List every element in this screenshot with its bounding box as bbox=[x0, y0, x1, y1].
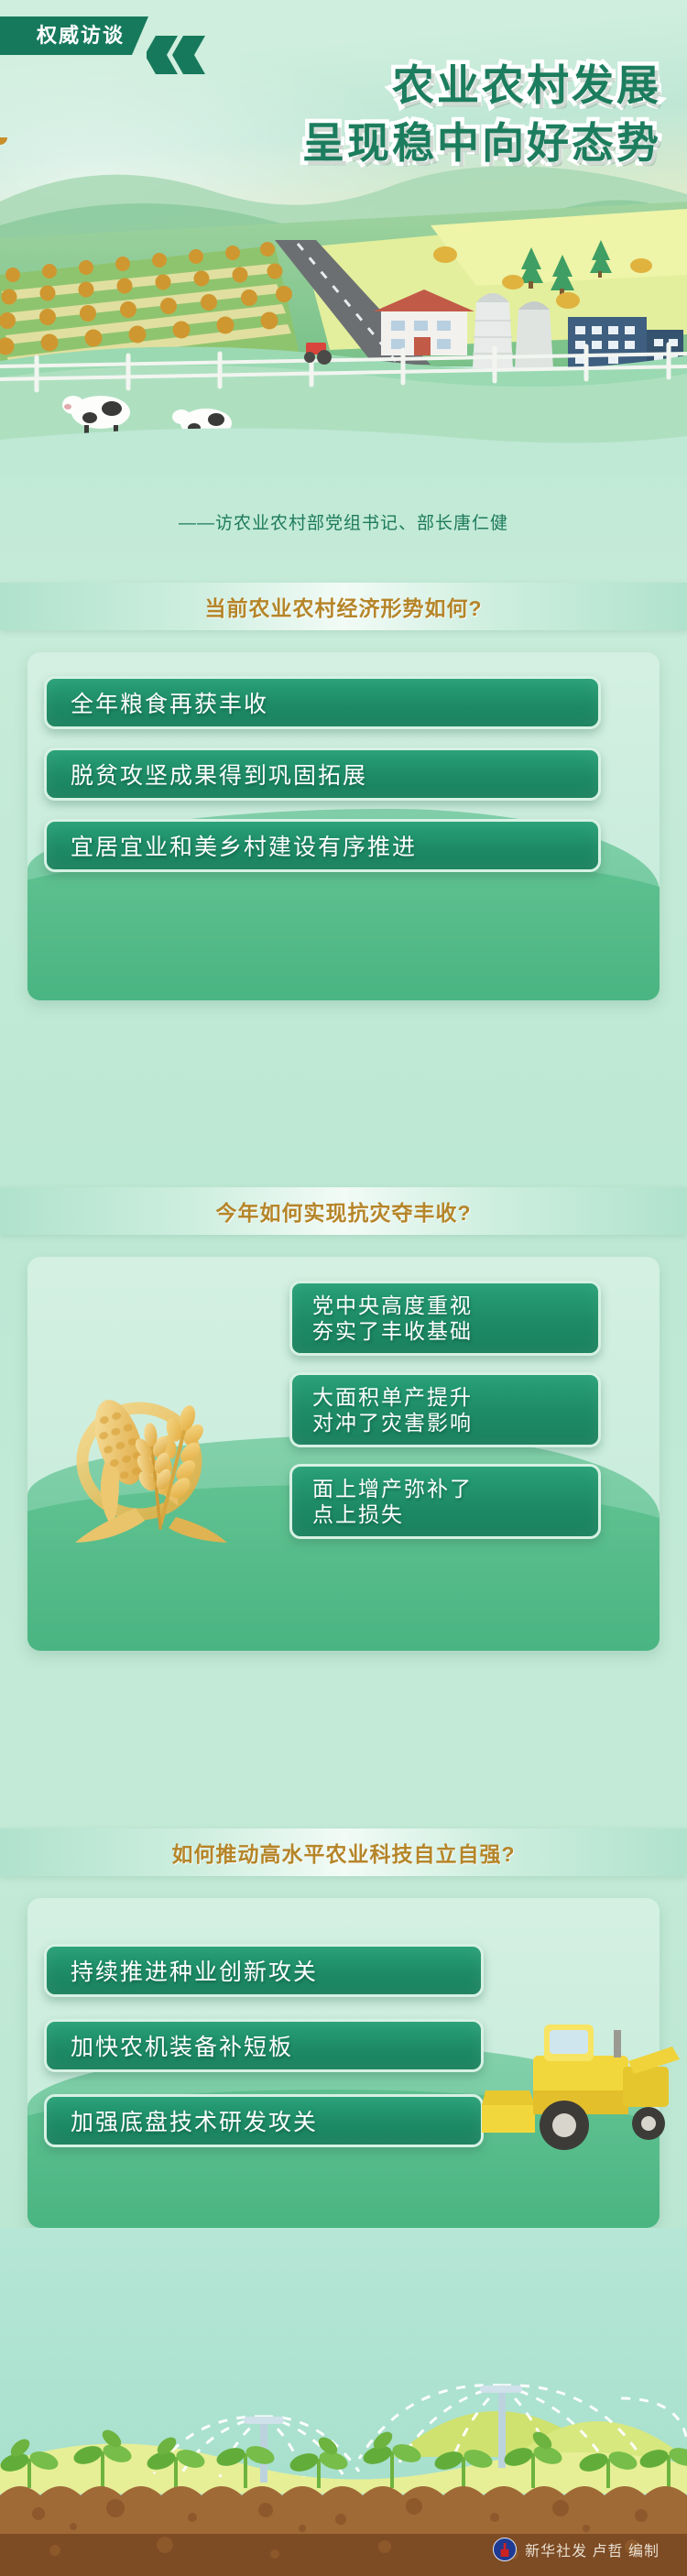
list-item[interactable]: 党中央高度重视 夯实了丰收基础 bbox=[289, 1281, 601, 1356]
title-line-1: 农业农村发展 bbox=[392, 59, 661, 113]
section-heading-2: 今年如何实现抗灾夺丰收? bbox=[0, 1187, 687, 1235]
list-item-label: 脱贫攻坚成果得到巩固拓展 bbox=[47, 758, 367, 791]
list-item-label: 大面积单产提升 对冲了灾害影响 bbox=[292, 1384, 473, 1435]
subtitle: ——访农业农村部党组书记、部长唐仁健 bbox=[0, 509, 687, 534]
footer-credit: 新华社发 卢哲 编制 bbox=[493, 2538, 660, 2561]
badge-label: 权威访谈 bbox=[0, 16, 148, 55]
list-item[interactable]: 持续推进种业创新攻关 bbox=[44, 1944, 484, 1997]
list-item[interactable]: 面上增产弥补了 点上损失 bbox=[289, 1464, 601, 1539]
section-heading-1: 当前农业农村经济形势如何? bbox=[0, 583, 687, 630]
panel-wave-front bbox=[27, 854, 660, 1000]
list-item[interactable]: 加快农机装备补短板 bbox=[44, 2019, 484, 2072]
list-item[interactable]: 加强底盘技术研发攻关 bbox=[44, 2094, 484, 2147]
section-heading-3-text: 如何推动高水平农业科技自立自强? bbox=[171, 1837, 515, 1868]
list-item-label: 加强底盘技术研发攻关 bbox=[47, 2104, 318, 2137]
wheat-corn-icon bbox=[48, 1347, 258, 1557]
infographic-page: 权威访谈 农业农村发展 呈现稳中向好态势 ——访农业农村部党组书记、部长唐仁健 … bbox=[0, 0, 687, 2576]
badge-authoritative-interview: 权威访谈 bbox=[0, 16, 147, 55]
hero-banner: 权威访谈 农业农村发展 呈现稳中向好态势 bbox=[0, 0, 687, 550]
xinhua-logo-icon bbox=[493, 2538, 517, 2561]
irrigation-field-illustration bbox=[0, 2228, 687, 2576]
section-heading-3: 如何推动高水平农业科技自立自强? bbox=[0, 1828, 687, 1876]
list-item[interactable]: 全年粮食再获丰收 bbox=[44, 676, 601, 729]
credit-text: 新华社发 卢哲 编制 bbox=[525, 2538, 660, 2560]
list-item-label: 党中央高度重视 夯实了丰收基础 bbox=[292, 1293, 473, 1344]
section-heading-2-text: 今年如何实现抗灾夺丰收? bbox=[215, 1195, 471, 1227]
list-item-label: 加快农机装备补短板 bbox=[47, 2029, 293, 2062]
list-item[interactable]: 脱贫攻坚成果得到巩固拓展 bbox=[44, 748, 601, 801]
title-line-2: 呈现稳中向好态势 bbox=[302, 116, 661, 170]
list-item[interactable]: 宜居宜业和美乡村建设有序推进 bbox=[44, 819, 601, 872]
list-item-label: 宜居宜业和美乡村建设有序推进 bbox=[47, 829, 417, 862]
list-item-label: 全年粮食再获丰收 bbox=[47, 686, 268, 719]
farm-landscape-illustration bbox=[0, 137, 687, 476]
list-item-label: 面上增产弥补了 点上损失 bbox=[292, 1476, 473, 1527]
section-heading-1-text: 当前农业农村经济形势如何? bbox=[204, 591, 482, 622]
harvester-icon bbox=[476, 2003, 687, 2167]
list-item[interactable]: 大面积单产提升 对冲了灾害影响 bbox=[289, 1372, 601, 1447]
list-item-label: 持续推进种业创新攻关 bbox=[47, 1954, 318, 1987]
page-title: 农业农村发展 呈现稳中向好态势 bbox=[302, 59, 661, 170]
